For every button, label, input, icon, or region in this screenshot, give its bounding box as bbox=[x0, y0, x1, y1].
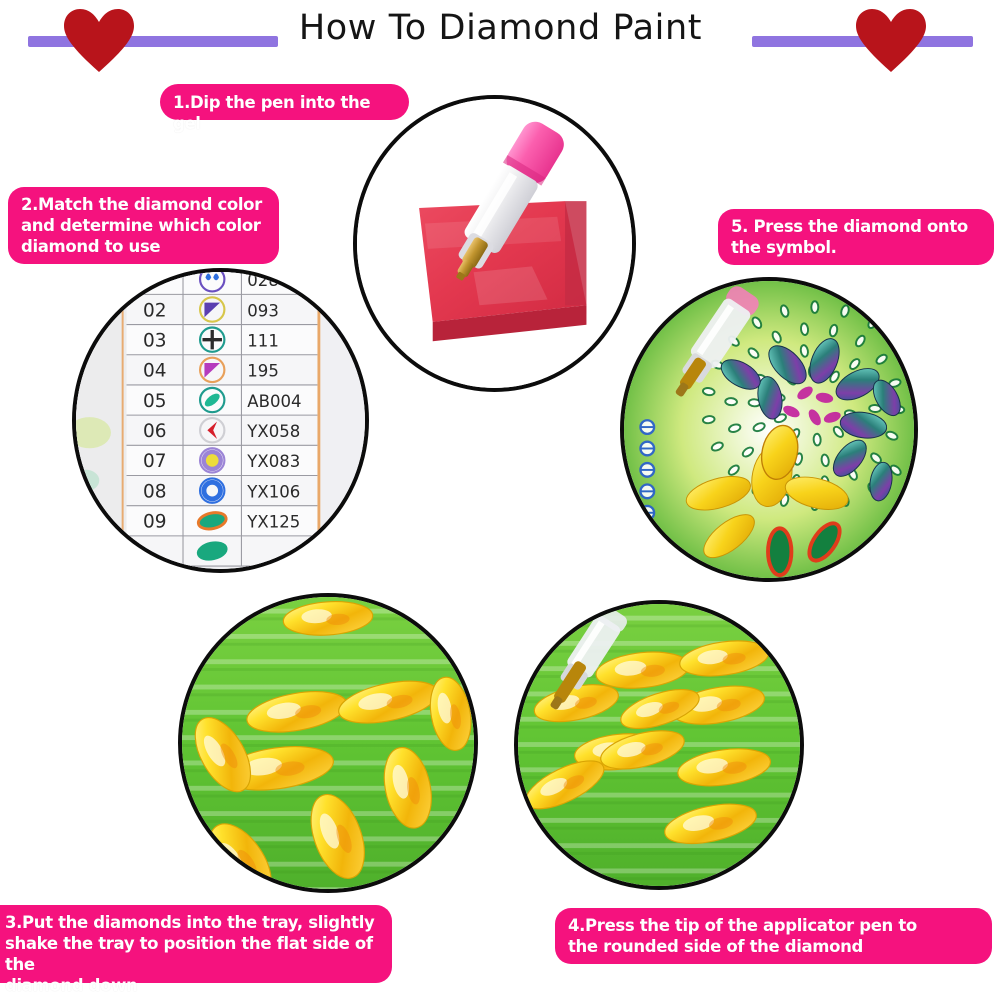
svg-text:03: 03 bbox=[143, 330, 167, 351]
svg-text:04: 04 bbox=[143, 361, 167, 382]
step-2-label-line-1: 2.Match the diamond color bbox=[21, 194, 266, 215]
step-5-label: 5. Press the diamond onto the symbol. bbox=[718, 209, 994, 265]
svg-text:YX125: YX125 bbox=[246, 513, 300, 532]
step-4-label: 4.Press the tip of the applicator pen to… bbox=[555, 908, 992, 964]
step-3-label: 3.Put the diamonds into the tray, slight… bbox=[0, 905, 392, 983]
svg-text:YX083: YX083 bbox=[246, 452, 300, 471]
step-1-label: 1.Dip the pen into the gel bbox=[160, 84, 409, 120]
svg-text:093: 093 bbox=[247, 301, 279, 320]
step-5-label-line-1: 5. Press the diamond onto bbox=[731, 216, 981, 237]
svg-text:YX058: YX058 bbox=[246, 422, 300, 441]
svg-text:05: 05 bbox=[143, 391, 167, 412]
header: How To Diamond Paint bbox=[0, 0, 1001, 72]
step-5-label-line-2: the symbol. bbox=[731, 237, 981, 258]
photo-pen-in-gel bbox=[353, 95, 636, 392]
page-title: How To Diamond Paint bbox=[0, 8, 1001, 48]
svg-text:08: 08 bbox=[143, 481, 167, 502]
step-3-label-line-3: diamond down bbox=[5, 975, 379, 996]
svg-text:09: 09 bbox=[143, 512, 167, 533]
svg-text:195: 195 bbox=[247, 362, 279, 381]
step-1-label-text: 1.Dip the pen into the gel bbox=[173, 93, 370, 133]
svg-text:028: 028 bbox=[247, 272, 279, 290]
dot-circle-icon bbox=[200, 448, 224, 472]
photo-color-chart: 02802093031110419505AB00406YX05807YX0830… bbox=[72, 268, 369, 573]
svg-text:06: 06 bbox=[143, 421, 167, 442]
step-2-label-line-3: diamond to use bbox=[21, 236, 266, 257]
step-4-label-line-2: the rounded side of the diamond bbox=[568, 936, 979, 957]
step-3-label-line-2: shake the tray to position the flat side… bbox=[5, 933, 379, 975]
svg-text:02: 02 bbox=[143, 300, 167, 321]
step-2-label-line-2: and determine which color bbox=[21, 215, 266, 236]
step-2-label: 2.Match the diamond color and determine … bbox=[8, 187, 279, 264]
photo-diamonds-in-tray bbox=[178, 593, 478, 893]
infographic-root: How To Diamond Paint 1.Dip the pen into … bbox=[0, 0, 1001, 1001]
svg-text:07: 07 bbox=[143, 451, 167, 472]
svg-text:YX106: YX106 bbox=[246, 482, 300, 501]
step-3-label-line-1: 3.Put the diamonds into the tray, slight… bbox=[5, 912, 379, 933]
step-4-label-line-1: 4.Press the tip of the applicator pen to bbox=[568, 915, 979, 936]
plus-icon bbox=[200, 328, 224, 352]
photo-press-onto-symbol bbox=[620, 277, 918, 582]
svg-text:111: 111 bbox=[247, 331, 279, 350]
svg-text:AB004: AB004 bbox=[247, 392, 301, 411]
photo-pen-picking-diamond bbox=[514, 600, 804, 890]
